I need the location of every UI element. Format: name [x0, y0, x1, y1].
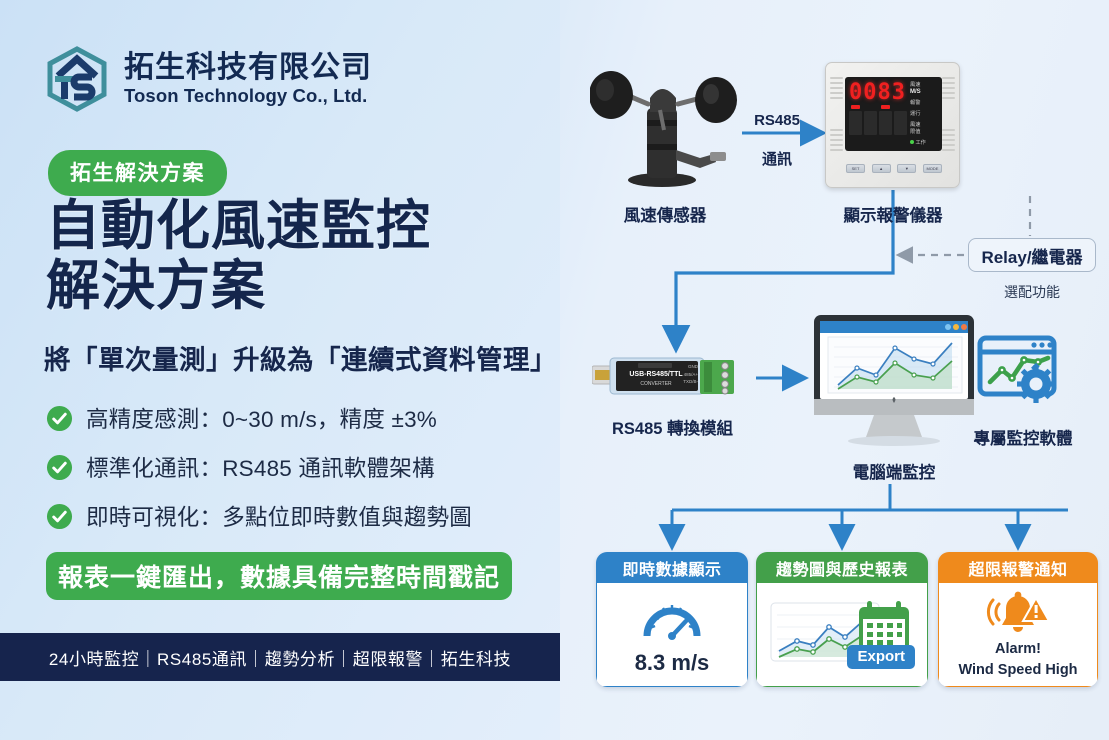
- card-body: Alarm! Wind Speed High: [938, 583, 1098, 687]
- limit-value-digits: [849, 111, 910, 135]
- vent-grill-right-bottom: [942, 129, 955, 163]
- led-screen: 0083 風速 M/S 報警 運行 風速 限值: [845, 77, 942, 151]
- display-alarm-unit[interactable]: 0083 風速 M/S 報警 運行 風速 限值: [825, 62, 960, 188]
- up-button[interactable]: ▲: [872, 164, 891, 173]
- keypad-row[interactable]: SET ▲ ▼ MODE: [846, 164, 942, 173]
- brand-block: 拓生科技有限公司 Toson Technology Co., Ltd.: [44, 46, 372, 112]
- rs485-link-line-1: RS485: [737, 112, 817, 129]
- vent-grill-left-top: [830, 77, 843, 111]
- card-title: 超限報警通知: [938, 552, 1098, 583]
- card-alarm-notice[interactable]: 超限報警通知 Alarm! Wind Speed High: [938, 552, 1098, 687]
- svg-text:CONVERTER: CONVERTER: [640, 381, 672, 387]
- svg-text:USB-RS485/TTL: USB-RS485/TTL: [629, 371, 683, 378]
- hexagon-ts-logo-icon: [44, 46, 110, 112]
- chart-window-gear-icon: [976, 334, 1066, 416]
- headline-line-2: 解決方案: [46, 256, 546, 316]
- rs485-link-label: RS485 通訊: [737, 112, 817, 169]
- check-circle-icon: [46, 454, 73, 481]
- brand-name-en: Toson Technology Co., Ltd.: [124, 85, 372, 107]
- relay-node[interactable]: Relay/繼電器: [968, 238, 1096, 272]
- page-title: 自動化風速監控 解決方案: [46, 196, 546, 317]
- wind-speed-digits: 0083: [849, 82, 910, 104]
- feature-list: 高精度感測：0~30 m/s，精度 ±3% 標準化通訊：RS485 通訊軟體架構…: [46, 402, 546, 549]
- card-realtime-data[interactable]: 即時數據顯示 8.3 m/s: [596, 552, 748, 687]
- software-label: 專屬監控軟體: [964, 425, 1082, 449]
- list-item: 標準化通訊：RS485 通訊軟體架構: [46, 451, 546, 483]
- footer-text: 24小時監控｜RS485通訊｜趨勢分析｜超限報警｜拓生科技: [49, 645, 511, 670]
- display-unit-label: 顯示報警儀器: [808, 202, 978, 226]
- alarm-line-2: Wind Speed High: [958, 661, 1077, 679]
- mode-button[interactable]: MODE: [923, 164, 942, 173]
- svg-text:GND: GND: [688, 364, 699, 369]
- poster-canvas: 拓生科技有限公司 Toson Technology Co., Ltd. 拓生解決…: [0, 0, 1109, 740]
- export-button[interactable]: Export: [847, 645, 915, 669]
- check-circle-icon: [46, 405, 73, 432]
- speed-gauge-icon: [641, 594, 703, 646]
- rs485-link-line-2: 通訊: [737, 148, 817, 169]
- alarm-bell-warning-icon: [985, 590, 1051, 638]
- rs485-converter-icon: USB-RS485/TTL CONVERTER GND 485/A+ TXD/B…: [592, 352, 750, 400]
- footer-strip: 24小時監控｜RS485通訊｜趨勢分析｜超限報警｜拓生科技: [0, 633, 560, 681]
- computer-label: 電腦端監控: [808, 459, 980, 483]
- status-alarm-label: 報警: [910, 100, 938, 107]
- export-highlight-banner: 報表一鍵匯出，數據具備完整時間戳記: [46, 552, 512, 600]
- card-trend-report[interactable]: 趨勢圖與歷史報表: [756, 552, 928, 687]
- check-circle-icon: [46, 503, 73, 530]
- unit-main-label: 風速 M/S: [910, 82, 938, 96]
- vent-grill-left-bottom: [830, 129, 843, 163]
- converter-label: RS485 轉換模組: [585, 415, 760, 439]
- vent-grill-right-top: [942, 77, 955, 111]
- card-title: 趨勢圖與歷史報表: [756, 552, 928, 583]
- card-body: Export: [756, 583, 928, 687]
- alarm-line-1: Alarm!: [995, 640, 1041, 658]
- feature-label: 即時可視化：多點位即時數值與趨勢圖: [86, 500, 472, 532]
- imac-monitor-icon: [808, 315, 980, 450]
- card-title: 即時數據顯示: [596, 552, 748, 583]
- solution-badge: 拓生解決方案: [48, 150, 227, 196]
- realtime-value: 8.3 m/s: [635, 650, 710, 676]
- status-work-label: 工作: [910, 140, 938, 147]
- headline-line-1: 自動化風速監控: [46, 196, 546, 256]
- status-run-label: 運行: [910, 111, 938, 118]
- brand-name-cn: 拓生科技有限公司: [124, 51, 372, 85]
- feature-label: 高精度感測：0~30 m/s，精度 ±3%: [86, 402, 437, 434]
- feature-label: 標準化通訊：RS485 通訊軟體架構: [86, 451, 435, 483]
- sensor-label: 風速傳感器: [600, 202, 730, 226]
- list-item: 高精度感測：0~30 m/s，精度 ±3%: [46, 402, 546, 434]
- unit-sub-label: 風速 限值: [910, 122, 938, 135]
- screen-side-labels: 風速 M/S 報警 運行 風速 限值 工作: [910, 82, 938, 146]
- anemometer-icon: [590, 48, 740, 188]
- svg-text:485/A+: 485/A+: [684, 372, 699, 377]
- list-item: 即時可視化：多點位即時數值與趨勢圖: [46, 500, 546, 532]
- relay-optional-note: 選配功能: [992, 282, 1072, 302]
- down-button[interactable]: ▼: [897, 164, 916, 173]
- system-diagram: 風速傳感器 RS485 通訊 0083: [560, 0, 1109, 740]
- status-led-icon: [910, 140, 914, 144]
- left-content-panel: 拓生科技有限公司 Toson Technology Co., Ltd. 拓生解決…: [0, 0, 560, 740]
- set-button[interactable]: SET: [846, 164, 865, 173]
- svg-text:TXD/B-: TXD/B-: [683, 379, 698, 384]
- trend-chart-calendar-icon: Export: [767, 599, 917, 671]
- subtitle: 將「單次量測」升級為「連續式資料管理」: [44, 338, 564, 377]
- card-body: 8.3 m/s: [596, 583, 748, 687]
